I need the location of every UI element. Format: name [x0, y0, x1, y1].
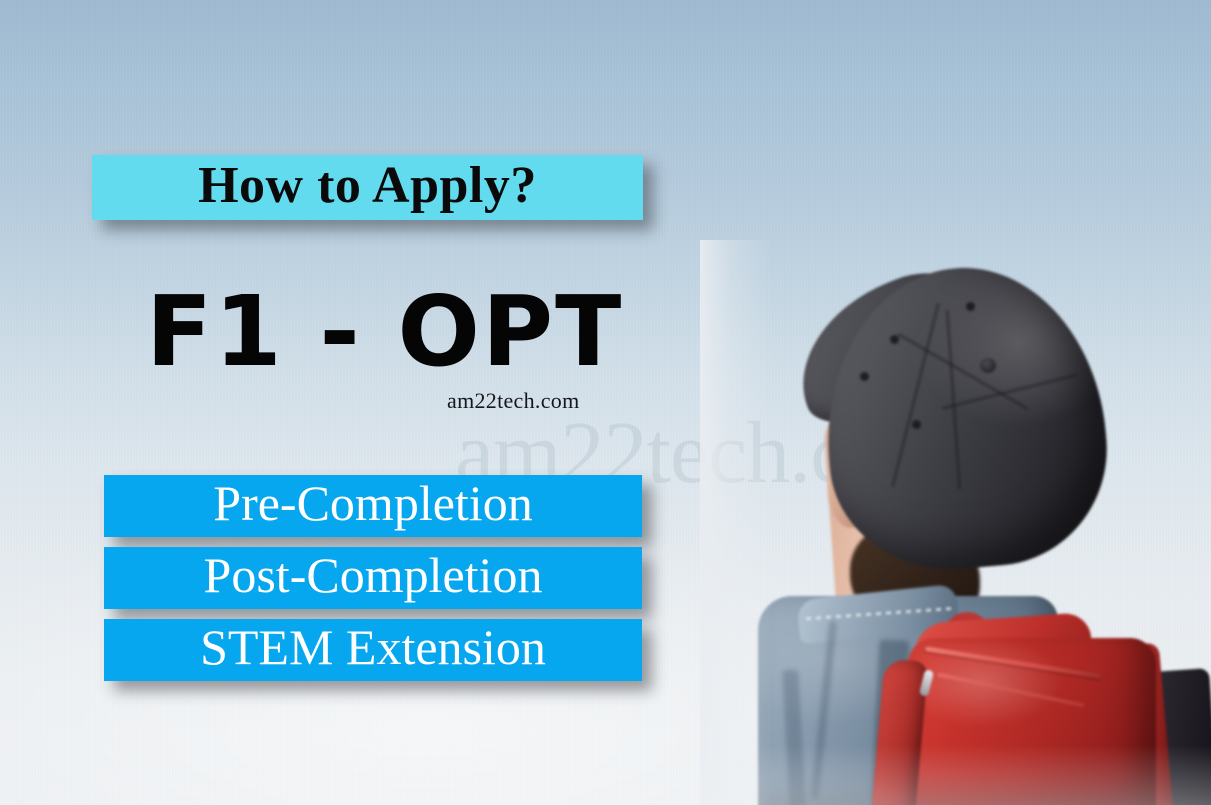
option-bar-stem-extension: STEM Extension	[104, 619, 642, 681]
option-bar-post-completion: Post-Completion	[104, 547, 642, 609]
option-bar-pre-completion: Pre-Completion	[104, 475, 642, 537]
cap-eyelet	[860, 372, 869, 381]
option-label: STEM Extension	[200, 622, 546, 678]
cap-eyelet	[912, 420, 921, 429]
page-title: F1 - OPT	[146, 283, 623, 380]
eyebrow-bar: How to Apply?	[92, 155, 643, 220]
option-label: Pre-Completion	[213, 478, 532, 534]
person-photo	[700, 240, 1211, 805]
cap-button	[980, 358, 996, 373]
option-label: Post-Completion	[204, 550, 543, 606]
cap-eyelet	[890, 335, 899, 344]
opt-poster: am22tech.com	[0, 0, 1211, 805]
eyebrow-label: How to Apply?	[198, 160, 537, 216]
site-credit: am22tech.com	[447, 388, 580, 414]
cap-eyelet	[966, 302, 975, 311]
